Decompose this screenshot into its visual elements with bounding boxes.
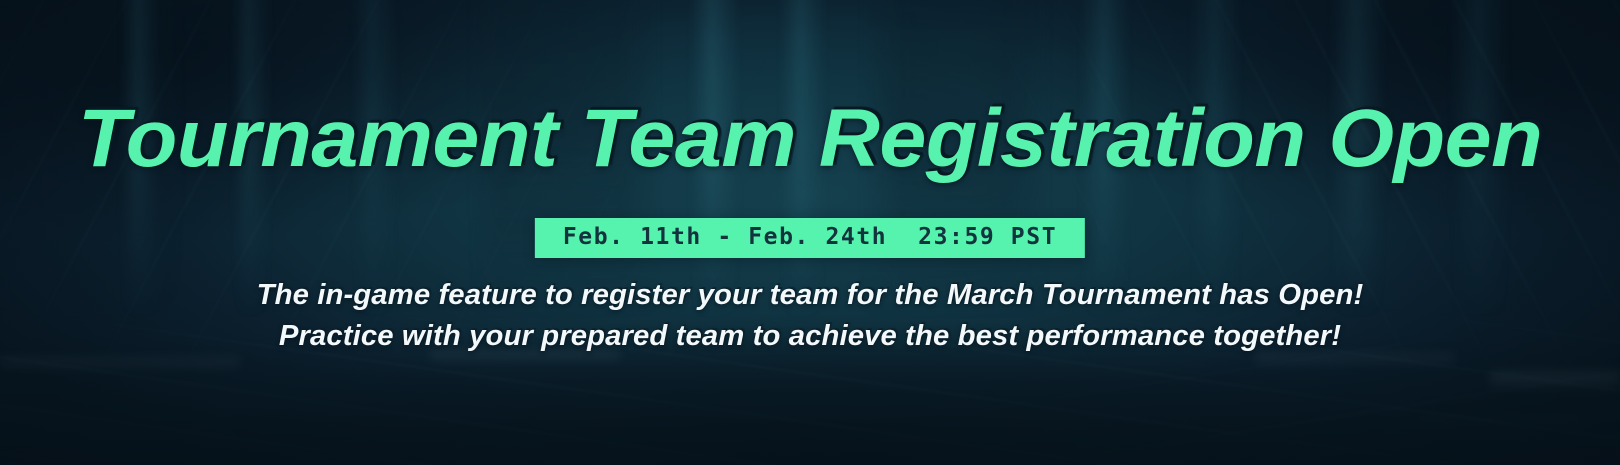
event-banner: Tournament Team Registration Open Feb. 1… (0, 0, 1620, 465)
banner-title: Tournament Team Registration Open (0, 98, 1620, 180)
banner-description: The in-game feature to register your tea… (0, 277, 1620, 354)
description-line-1: The in-game feature to register your tea… (0, 277, 1620, 313)
banner-content: Tournament Team Registration Open Feb. 1… (0, 0, 1620, 465)
event-date-badge: Feb. 11th - Feb. 24th 23:59 PST (535, 218, 1085, 258)
description-line-2: Practice with your prepared team to achi… (0, 318, 1620, 354)
